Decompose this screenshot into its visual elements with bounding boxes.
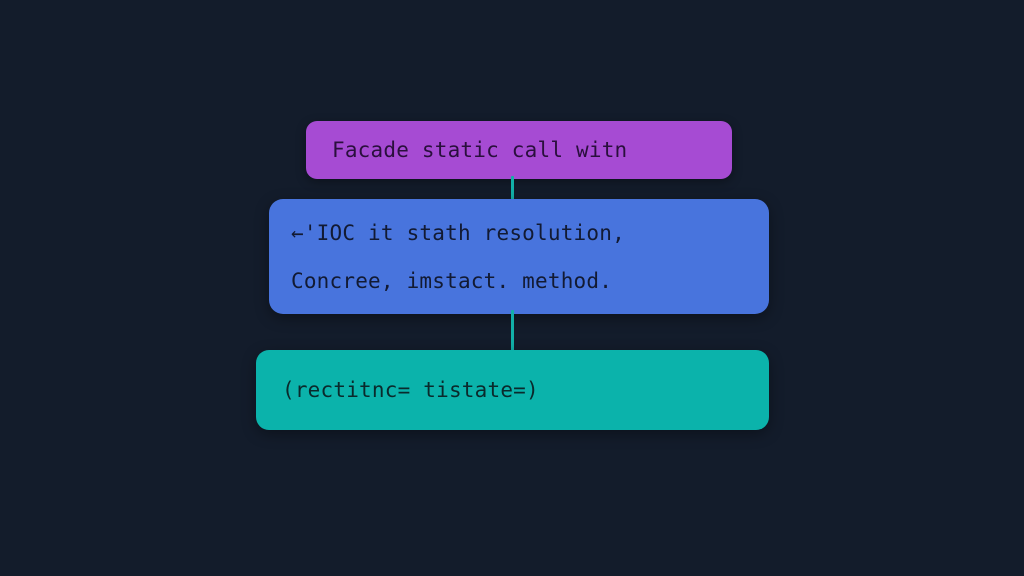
diagram-canvas: Facade static call witn ←'IOC it stath r… <box>0 0 1024 576</box>
instance-result-label: (rectitnc= tistate=) <box>282 378 743 402</box>
ioc-resolution-line-1: ←'IOC it stath resolution, <box>291 221 747 245</box>
ioc-resolution-node[interactable]: ←'IOC it stath resolution, Concree, imst… <box>269 199 769 314</box>
facade-static-call-node[interactable]: Facade static call witn <box>306 121 732 179</box>
facade-static-call-label: Facade static call witn <box>332 138 706 162</box>
instance-result-node[interactable]: (rectitnc= tistate=) <box>256 350 769 430</box>
connector-ioc-to-instance <box>511 310 514 353</box>
ioc-resolution-line-2: Concree, imstact. method. <box>291 269 747 293</box>
